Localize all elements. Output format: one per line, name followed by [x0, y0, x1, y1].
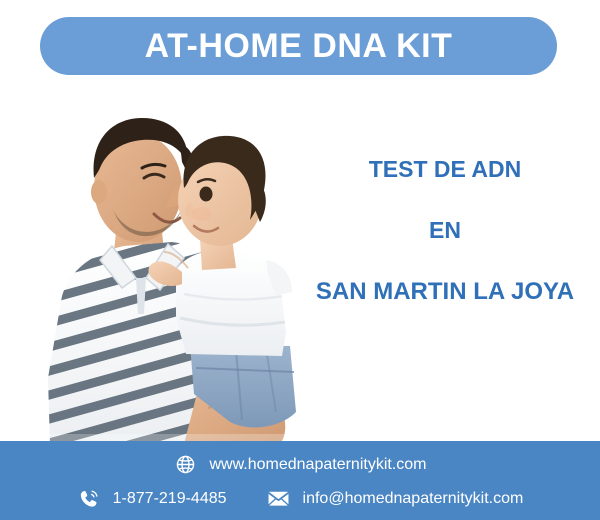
headline-line-3: SAN MARTIN LA JOYA	[300, 280, 590, 304]
contact-footer: www.homednapaternitykit.com 1-877-219-44…	[0, 441, 600, 520]
website-text: www.homednapaternitykit.com	[210, 457, 427, 473]
website-contact[interactable]: www.homednapaternitykit.com	[174, 453, 427, 477]
email-text: info@homednapaternitykit.com	[303, 491, 524, 507]
page-title: AT-HOME DNA KIT	[145, 29, 453, 63]
phone-contact[interactable]: 1-877-219-4485	[77, 487, 227, 511]
headline-line-1: TEST DE ADN	[300, 158, 590, 181]
footer-row-website: www.homednapaternitykit.com	[174, 448, 427, 482]
dna-kit-banner: AT-HOME DNA KIT	[0, 0, 600, 520]
envelope-icon	[267, 487, 291, 511]
footer-row-phone-email: 1-877-219-4485 info@homednapaternitykit.…	[77, 482, 524, 516]
title-badge: AT-HOME DNA KIT	[40, 17, 557, 75]
phone-icon	[77, 487, 101, 511]
family-photo	[4, 82, 316, 444]
headline-line-2: EN	[300, 219, 590, 242]
phone-text: 1-877-219-4485	[113, 491, 227, 507]
headline-block: TEST DE ADN EN SAN MARTIN LA JOYA	[300, 158, 590, 304]
email-contact[interactable]: info@homednapaternitykit.com	[267, 487, 524, 511]
globe-icon	[174, 453, 198, 477]
family-photo-illustration	[4, 82, 316, 444]
